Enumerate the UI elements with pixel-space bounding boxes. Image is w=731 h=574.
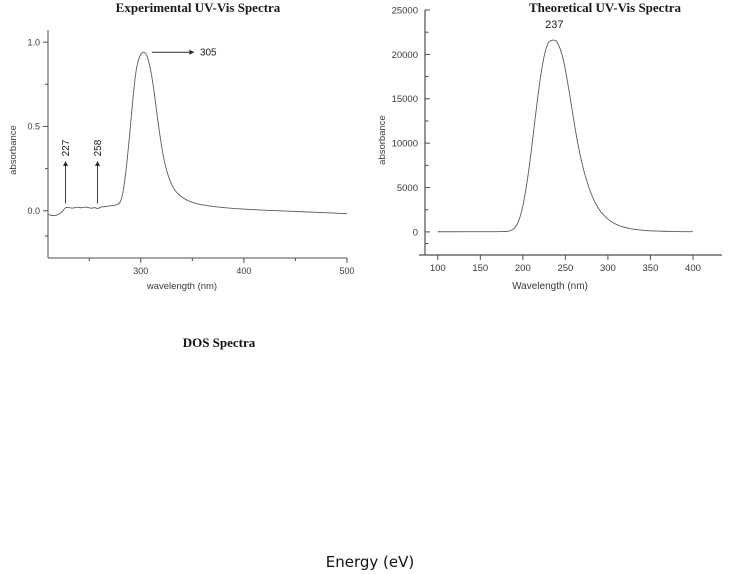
experimental-x-tick-label: 500 (339, 266, 354, 276)
theoretical-spectrum-curve (438, 40, 693, 232)
theoretical-y-axis-label: absorbance (377, 115, 388, 165)
theoretical-plot-area: 1001502002503003504000500010000150002000… (392, 5, 722, 274)
theoretical-x-tick-label: 400 (685, 263, 701, 274)
experimental-spectrum-curve (48, 52, 347, 215)
experimental-annotation-arrowhead (95, 161, 100, 166)
experimental-annotation-label: 227 (61, 139, 72, 156)
theoretical-x-tick-label: 150 (472, 263, 488, 274)
experimental-x-tick-label: 300 (133, 266, 148, 276)
experimental-x-tick-label: 400 (236, 266, 251, 276)
experimental-annotation-label: 258 (93, 139, 104, 156)
experimental-plot-area: 3004005000.00.51.0305227258 (27, 30, 354, 276)
panel-dos-spectra: DOS Spectra Energy (eV) (0, 292, 731, 574)
theoretical-x-tick-label: 100 (430, 263, 446, 274)
theoretical-y-tick-label: 15000 (392, 94, 418, 105)
experimental-y-axis-label: absorbance (8, 125, 19, 175)
experimental-chart-svg: Experimental UV-Vis Spectra 3004005000.0… (0, 0, 365, 292)
dos-chart-title: DOS Spectra (183, 335, 256, 350)
theoretical-x-tick-label: 350 (643, 263, 659, 274)
experimental-y-tick-label: 0.5 (27, 122, 40, 132)
experimental-annotation-label: 305 (200, 48, 217, 59)
theoretical-y-tick-label: 10000 (392, 139, 418, 150)
theoretical-x-tick-label: 300 (600, 263, 616, 274)
experimental-annotation-arrowhead (63, 161, 68, 166)
theoretical-y-tick-label: 20000 (392, 50, 418, 61)
panel-experimental-uv-vis: Experimental UV-Vis Spectra 3004005000.0… (0, 0, 365, 292)
theoretical-chart-title: Theoretical UV-Vis Spectra (529, 0, 682, 15)
theoretical-y-tick-label: 0 (413, 227, 418, 238)
theoretical-x-axis-label: Wavelength (nm) (512, 281, 588, 292)
panel-theoretical-uv-vis: Theoretical UV-Vis Spectra 1001502002503… (365, 0, 731, 292)
dos-chart-svg: DOS Spectra Energy (eV) (0, 292, 731, 574)
experimental-y-tick-label: 1.0 (27, 37, 40, 47)
theoretical-x-tick-label: 250 (557, 263, 573, 274)
experimental-x-axis-label: wavelength (nm) (146, 281, 217, 292)
experimental-chart-title: Experimental UV-Vis Spectra (116, 0, 281, 15)
experimental-annotation-arrowhead (189, 50, 194, 55)
theoretical-chart-svg: Theoretical UV-Vis Spectra 1001502002503… (365, 0, 731, 292)
theoretical-x-tick-label: 200 (515, 263, 531, 274)
theoretical-peak-label: 237 (545, 19, 563, 31)
experimental-y-tick-label: 0.0 (27, 206, 40, 216)
theoretical-y-tick-label: 25000 (392, 5, 418, 16)
dos-x-axis-label: Energy (eV) (326, 553, 414, 571)
theoretical-y-tick-label: 5000 (397, 183, 418, 194)
